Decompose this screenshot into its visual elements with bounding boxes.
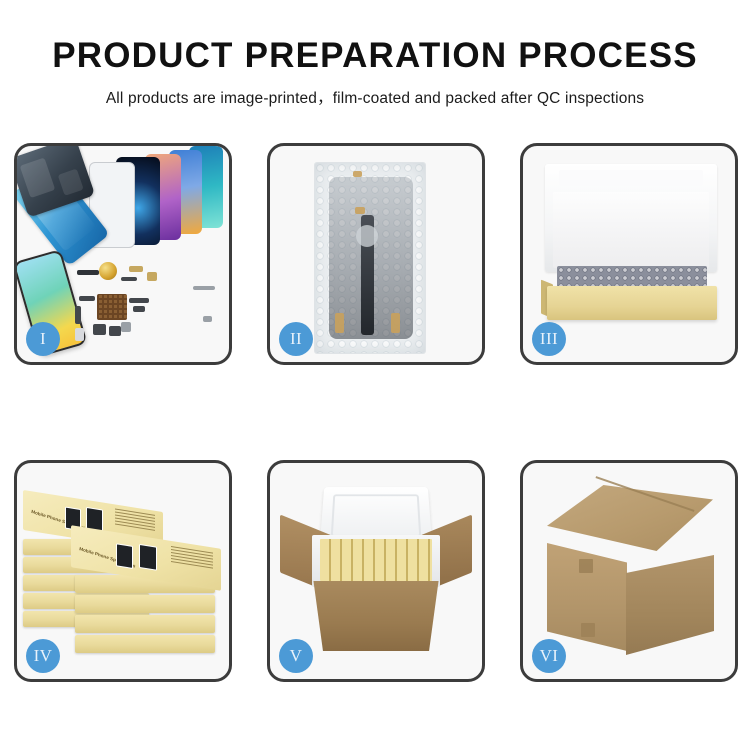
- step-panel-1: I: [14, 143, 232, 365]
- stacked-box: [75, 635, 215, 653]
- tape-tab-top-icon: [353, 171, 362, 177]
- carton-body-icon: [308, 581, 444, 651]
- bubble-wrap-bag-icon: [314, 162, 426, 354]
- label-spec-lines: [171, 546, 213, 571]
- yellow-box-tray-icon: [547, 286, 717, 320]
- step-panel-6: VI: [520, 460, 738, 682]
- part-cable-left-icon: [79, 296, 95, 301]
- step-panel-3: III: [520, 143, 738, 365]
- product-preparation-infographic: PRODUCT PREPARATION PROCESS All products…: [0, 0, 750, 750]
- part-cable-right-icon: [129, 298, 149, 303]
- carton-right-face-icon: [626, 555, 714, 655]
- carton-tape-upper-icon: [579, 559, 593, 573]
- tape-tab-bottom-left-icon: [335, 313, 344, 333]
- part-washer-icon: [121, 322, 131, 332]
- step-badge-6: VI: [532, 639, 566, 673]
- inner-boxes-icon: [320, 539, 432, 581]
- step-badge-1: I: [26, 322, 60, 356]
- part-speaker-icon: [77, 270, 99, 275]
- step-panel-4: Mobile Phone Spare Parts Mobile Phone Sp…: [14, 460, 232, 682]
- box-stack-icon: Mobile Phone Spare Parts Mobile Phone Sp…: [23, 487, 229, 663]
- header: PRODUCT PREPARATION PROCESS All products…: [0, 38, 750, 108]
- part-camera-icon: [93, 324, 106, 335]
- stacked-box: [75, 595, 215, 613]
- step-panel-2: II: [267, 143, 485, 365]
- label-screen-image: [116, 543, 133, 569]
- taptic-engine-icon: [99, 262, 117, 280]
- part-bracket-icon: [129, 266, 143, 272]
- carton-tape-lower-icon: [581, 623, 595, 637]
- part-sim-tray-icon: [75, 328, 84, 341]
- tape-tab-mid-icon: [355, 207, 365, 214]
- step-4-illustration: Mobile Phone Spare Parts Mobile Phone Sp…: [17, 463, 229, 679]
- part-connector-icon: [147, 272, 157, 281]
- part-button-icon: [109, 326, 121, 336]
- step-3-illustration: III: [523, 146, 735, 362]
- process-step-grid: I II: [14, 143, 736, 671]
- label-screen-image: [139, 544, 157, 571]
- step-1-illustration: I: [17, 146, 229, 362]
- step-badge-4: IV: [26, 639, 60, 673]
- page-subtitle: All products are image-printed，film-coat…: [0, 86, 750, 108]
- part-screw-icon: [203, 316, 212, 322]
- step-2-illustration: II: [270, 146, 482, 362]
- step-panel-5: V: [267, 460, 485, 682]
- step-5-illustration: V: [270, 463, 482, 679]
- screw-tray-icon: [97, 294, 127, 320]
- step-badge-2: II: [279, 322, 313, 356]
- tape-tab-bottom-right-icon: [391, 313, 400, 333]
- page-title: PRODUCT PREPARATION PROCESS: [0, 38, 750, 75]
- step-badge-3: III: [532, 322, 566, 356]
- foam-sheet-icon: [553, 192, 709, 268]
- part-module-icon: [133, 306, 145, 312]
- part-cable-vertical-icon: [75, 306, 81, 324]
- stacked-box: [75, 615, 215, 633]
- camera-hole-icon: [356, 225, 378, 247]
- tool-screwdriver-icon: [193, 286, 215, 290]
- step-badge-5: V: [279, 639, 313, 673]
- carton-top-face-icon: [547, 485, 713, 551]
- step-6-illustration: VI: [523, 463, 735, 679]
- label-spec-lines: [115, 508, 155, 532]
- part-flex-icon: [121, 277, 137, 281]
